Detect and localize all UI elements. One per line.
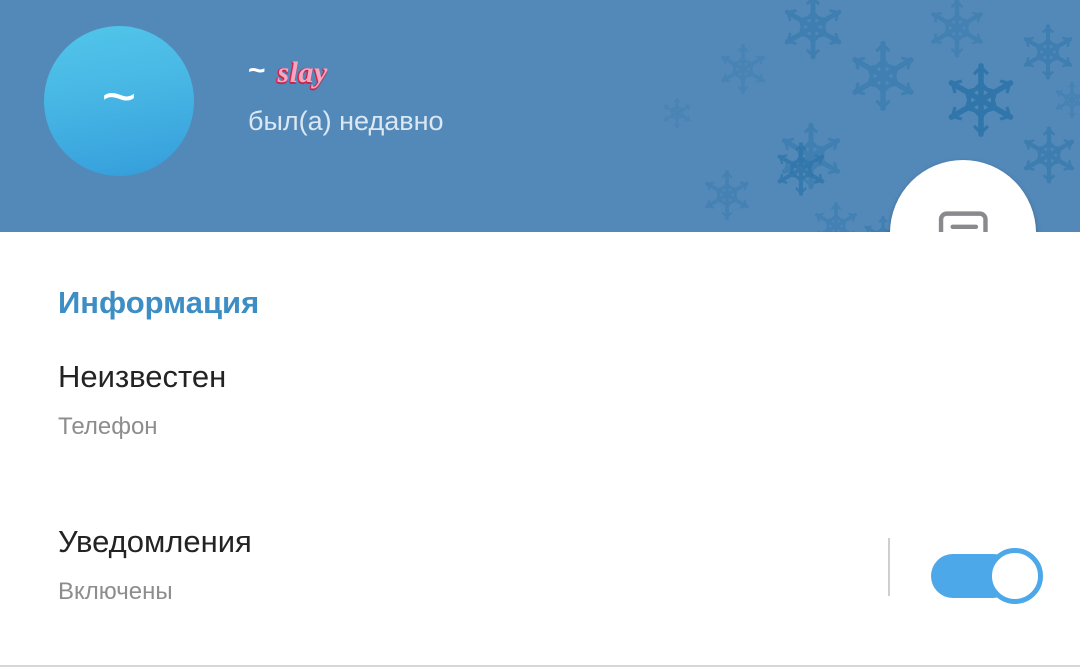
info-content: Информация Неизвестен Телефон Уведомлени… (0, 232, 1080, 667)
snowflake-icon (1018, 22, 1078, 82)
snowflake-icon (772, 140, 830, 198)
snowflake-icon (925, 0, 989, 60)
profile-header: ~ ~ slay был(а) недавно (0, 0, 1080, 232)
message-bubble-icon (932, 202, 994, 232)
toggle-divider (888, 538, 890, 596)
section-title-information: Информация (58, 284, 259, 322)
info-row-notifications[interactable]: Уведомления Включены (0, 522, 1080, 642)
snowflake-icon (1052, 80, 1080, 120)
avatar-initial: ~ (101, 67, 136, 127)
send-message-button[interactable] (890, 160, 1036, 232)
display-name: ~ slay (248, 52, 868, 94)
toggle-knob (987, 548, 1043, 604)
identity-block: ~ slay был(а) недавно (248, 52, 868, 138)
info-row-phone[interactable]: Неизвестен Телефон (0, 357, 1080, 467)
profile-screen: ~ ~ slay был(а) недавно Информация Неизв (0, 0, 1080, 667)
notifications-label: Уведомления (58, 522, 252, 562)
phone-label: Телефон (58, 411, 158, 443)
snowflake-icon (810, 200, 862, 232)
name-prefix-tilde: ~ (248, 50, 266, 92)
snowflake-icon (700, 168, 754, 222)
notifications-toggle[interactable] (931, 548, 1032, 592)
name-styled-text: slay (278, 52, 328, 94)
last-seen-status: был(а) недавно (248, 104, 868, 138)
notifications-state: Включены (58, 576, 173, 608)
snowflake-icon (1018, 124, 1080, 186)
snowflake-icon (941, 60, 1021, 140)
avatar[interactable]: ~ (44, 26, 194, 176)
phone-value: Неизвестен (58, 357, 226, 397)
